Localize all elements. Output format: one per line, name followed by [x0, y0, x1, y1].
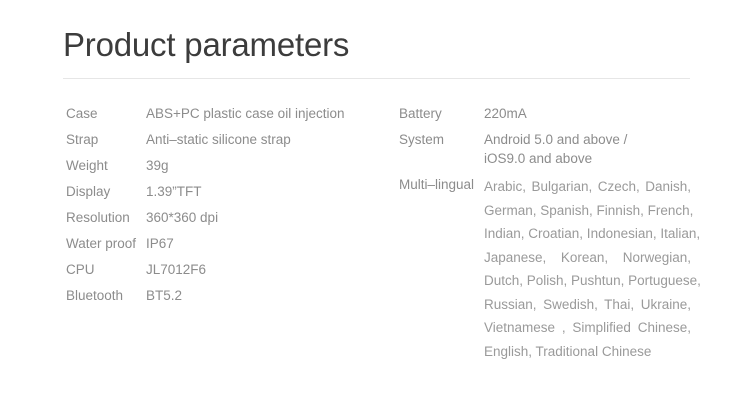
spec-value-strap: Anti–static silicone strap	[146, 130, 376, 149]
spec-row-resolution: Resolution 360*360 dpi	[66, 208, 376, 227]
spec-value-cpu: JL7012F6	[146, 260, 376, 279]
spec-value-display: 1.39”TFT	[146, 182, 376, 201]
spec-label-battery: Battery	[399, 104, 484, 123]
language-line: Dutch, Polish, Pushtun, Portuguese,	[484, 269, 691, 293]
product-parameters-page: Product parameters Case ABS+PC plastic c…	[0, 0, 750, 412]
spec-value-weight: 39g	[146, 156, 376, 175]
language-line: Indian, Croatian, Indonesian, Italian,	[484, 222, 691, 246]
language-line: German, Spanish, Finnish, French,	[484, 199, 691, 223]
spec-value-water-proof: IP67	[146, 234, 376, 253]
spec-row-water-proof: Water proof IP67	[66, 234, 376, 253]
spec-label-resolution: Resolution	[66, 208, 146, 227]
language-line: Japanese, Korean, Norwegian,	[484, 246, 691, 270]
spec-label-weight: Weight	[66, 156, 146, 175]
spec-value-system: Android 5.0 and above / iOS9.0 and above	[484, 130, 691, 168]
page-title: Product parameters	[63, 24, 349, 65]
spec-value-multi-lingual: Arabic, Bulgarian, Czech, Danish, German…	[484, 175, 691, 363]
spec-row-cpu: CPU JL7012F6	[66, 260, 376, 279]
spec-column-right: Battery 220mA System Android 5.0 and abo…	[399, 104, 691, 363]
spec-value-system-line-2: iOS9.0 and above	[484, 149, 691, 168]
spec-value-resolution: 360*360 dpi	[146, 208, 376, 227]
spec-label-bluetooth: Bluetooth	[66, 286, 146, 305]
spec-row-display: Display 1.39”TFT	[66, 182, 376, 201]
spec-value-case: ABS+PC plastic case oil injection	[146, 104, 376, 123]
spec-row-system: System Android 5.0 and above / iOS9.0 an…	[399, 130, 691, 168]
spec-label-multi-lingual: Multi–lingual	[399, 175, 484, 194]
spec-label-case: Case	[66, 104, 146, 123]
spec-row-battery: Battery 220mA	[399, 104, 691, 123]
language-line: Arabic, Bulgarian, Czech, Danish,	[484, 175, 691, 199]
spec-row-weight: Weight 39g	[66, 156, 376, 175]
spec-label-system: System	[399, 130, 484, 149]
spec-row-strap: Strap Anti–static silicone strap	[66, 130, 376, 149]
spec-label-display: Display	[66, 182, 146, 201]
spec-label-cpu: CPU	[66, 260, 146, 279]
spec-column-left: Case ABS+PC plastic case oil injection S…	[66, 104, 376, 312]
spec-row-multi-lingual: Multi–lingual Arabic, Bulgarian, Czech, …	[399, 175, 691, 363]
spec-label-water-proof: Water proof	[66, 234, 146, 253]
spec-value-system-line-1: Android 5.0 and above /	[484, 130, 691, 149]
spec-value-battery: 220mA	[484, 104, 691, 123]
spec-value-bluetooth: BT5.2	[146, 286, 376, 305]
spec-row-case: Case ABS+PC plastic case oil injection	[66, 104, 376, 123]
spec-label-strap: Strap	[66, 130, 146, 149]
language-line: Vietnamese , Simplified Chinese,	[484, 316, 691, 340]
title-divider	[63, 78, 690, 79]
language-line: English, Traditional Chinese	[484, 340, 691, 364]
spec-row-bluetooth: Bluetooth BT5.2	[66, 286, 376, 305]
language-line: Russian, Swedish, Thai, Ukraine,	[484, 293, 691, 317]
